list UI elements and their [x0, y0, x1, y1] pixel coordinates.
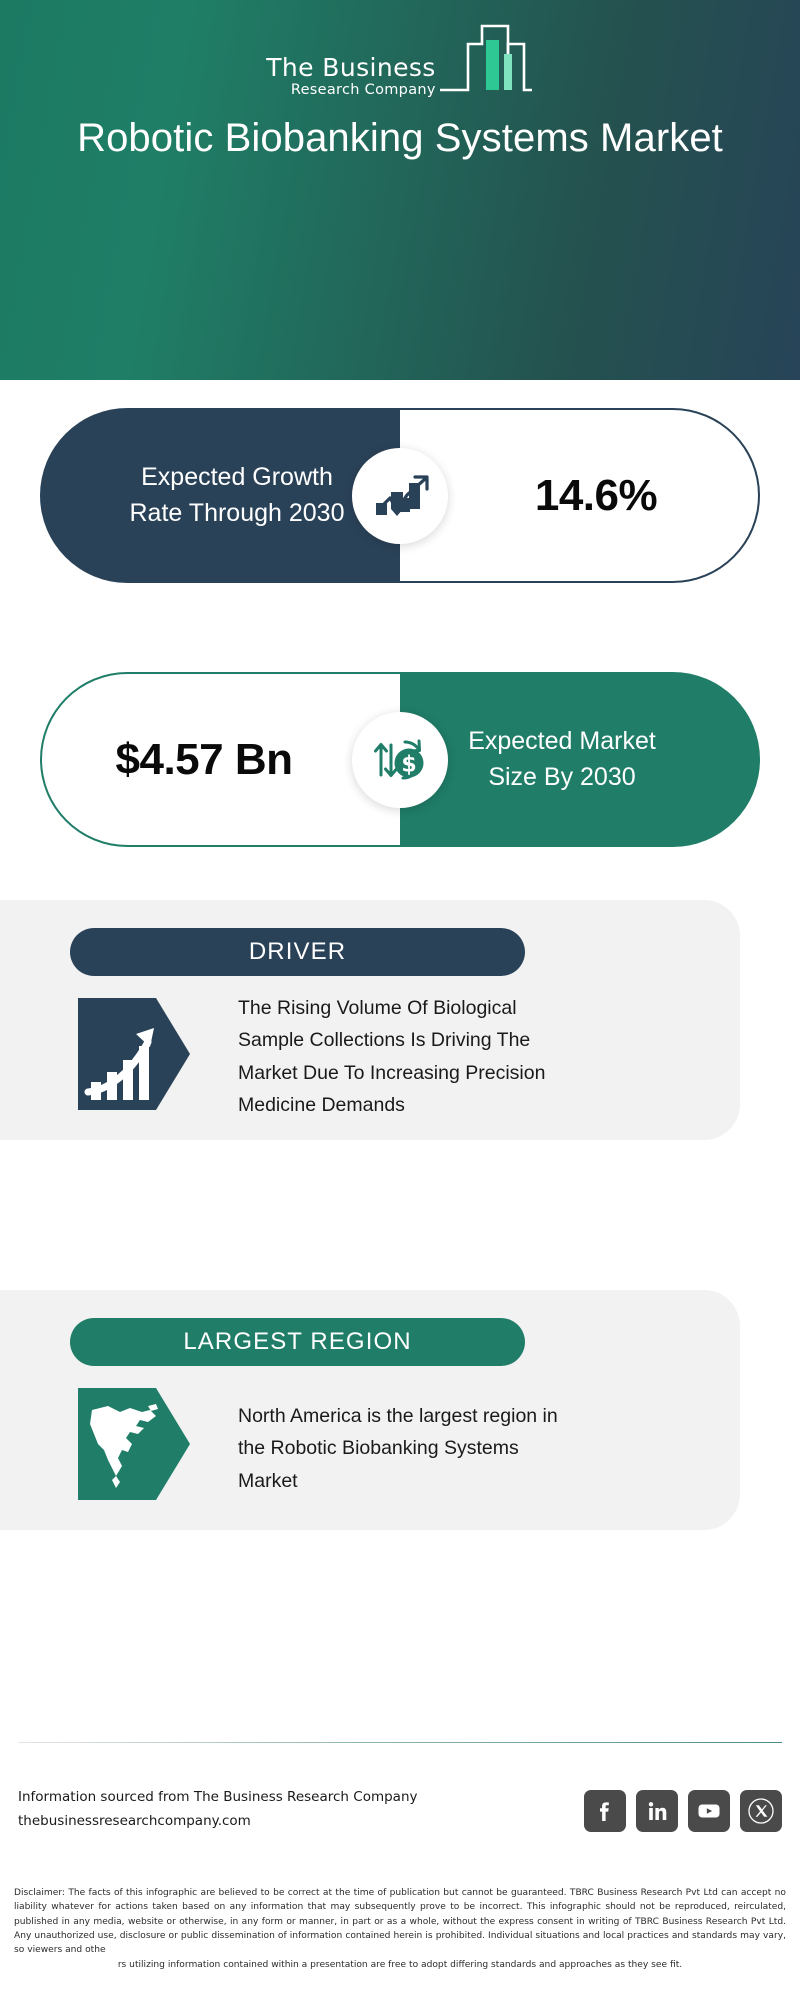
bar-chart-logo-icon [438, 22, 534, 103]
logo-line-primary: The Business [266, 55, 436, 81]
growth-rate-value-panel: 14.6% [400, 408, 760, 583]
driver-tag: DRIVER [70, 928, 525, 976]
disclaimer-last-line: rs utilizing information contained withi… [14, 1958, 786, 1972]
market-size-label: Expected Market Size By 2030 [455, 724, 705, 795]
stat-band-market-size: $4.57 Bn Expected Market Size By 2030 $ [40, 672, 760, 847]
growth-rate-label: Expected Growth Rate Through 2030 [95, 460, 345, 531]
market-size-value-panel: $4.57 Bn [40, 672, 400, 847]
north-america-map-icon [78, 1388, 190, 1500]
driver-card: DRIVER The Rising Volume Of Biological S… [0, 900, 740, 1140]
facebook-icon[interactable] [584, 1790, 626, 1832]
svg-text:$: $ [401, 752, 416, 777]
logo-line-secondary: Research Company [291, 82, 436, 99]
rising-bar-chart-arrow-icon [78, 998, 190, 1110]
driver-text: The Rising Volume Of Biological Sample C… [238, 992, 568, 1121]
company-logo: The Business Research Company [0, 22, 800, 105]
source-info: Information sourced from The Business Re… [18, 1786, 418, 1833]
youtube-icon[interactable] [688, 1790, 730, 1832]
footer-divider [18, 1742, 782, 1743]
disclaimer-text: Disclaimer: The facts of this infographi… [14, 1886, 786, 1972]
linkedin-icon[interactable] [636, 1790, 678, 1832]
growth-rate-value: 14.6% [501, 470, 657, 521]
market-size-label-panel: Expected Market Size By 2030 [400, 672, 760, 847]
source-website[interactable]: thebusinessresearchcompany.com [18, 1810, 418, 1834]
disclaimer-main: Disclaimer: The facts of this infographi… [14, 1888, 786, 1955]
source-line-1: Information sourced from The Business Re… [18, 1786, 418, 1810]
stat-band-growth-rate: Expected Growth Rate Through 2030 14.6% [40, 408, 760, 583]
header-banner: The Business Research Company Robotic Bi… [0, 0, 800, 380]
largest-region-card: LARGEST REGION North America is the larg… [0, 1290, 740, 1530]
dollar-circular-arrows-icon: $ [352, 712, 448, 808]
page-title: Robotic Biobanking Systems Market [40, 112, 760, 165]
largest-region-text: North America is the largest region in t… [238, 1400, 568, 1497]
growth-rate-label-panel: Expected Growth Rate Through 2030 [40, 408, 400, 583]
logo-text: The Business Research Company [266, 55, 436, 105]
social-links [584, 1790, 782, 1832]
growth-chart-arrow-icon [352, 448, 448, 544]
largest-region-tag: LARGEST REGION [70, 1318, 525, 1366]
x-twitter-icon[interactable] [740, 1790, 782, 1832]
infographic-page: The Business Research Company Robotic Bi… [0, 0, 800, 2000]
market-size-value: $4.57 Bn [116, 734, 327, 785]
